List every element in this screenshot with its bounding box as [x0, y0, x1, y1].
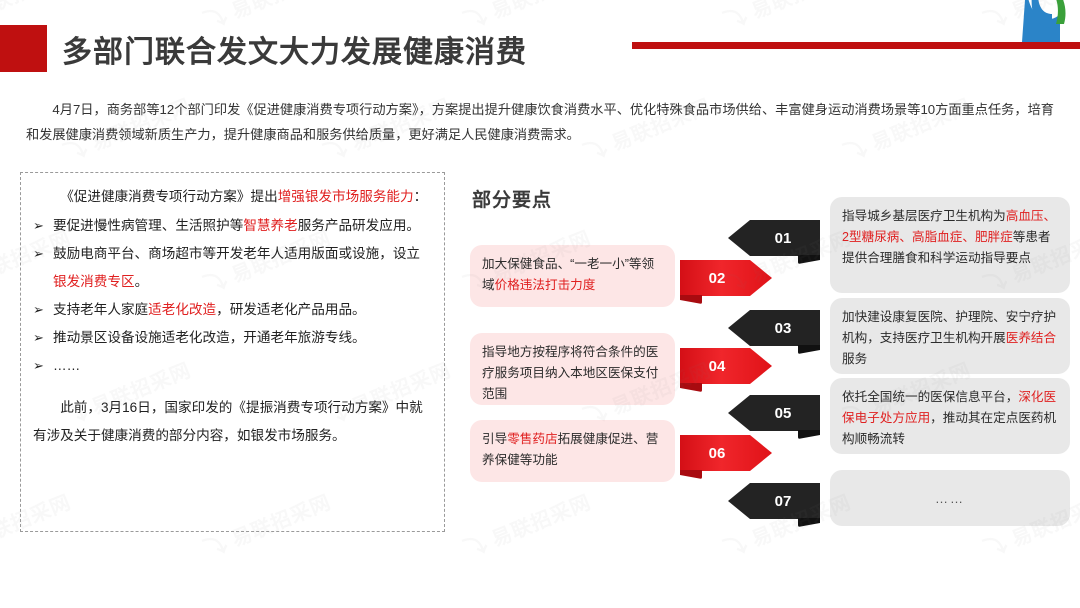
page-title: 多部门联合发文大力发展健康消费: [62, 27, 527, 71]
bullet-plain-2: ，研发适老化产品用品。: [216, 302, 366, 317]
key-point-badge-04[interactable]: 04: [680, 348, 772, 384]
bullet-highlight: 智慧养老: [243, 218, 297, 233]
badge-tail: [680, 383, 702, 392]
badge-shape: 01: [728, 220, 820, 256]
bullet-arrow-icon: ➢: [33, 324, 44, 352]
key-point-bubble-05: 依托全国统一的医保信息平台，深化医保电子处方应用，推动其在定点医药机构顺畅流转: [830, 378, 1070, 454]
kp-plain-1: 指导城乡基层医疗卫生机构为: [842, 209, 1006, 223]
badge-number: 03: [757, 320, 792, 337]
kp-plain-1: 指导地方按程序将符合条件的医疗服务项目纳入本地区医保支付范围: [482, 345, 658, 401]
badge-tail: [680, 295, 702, 304]
left-footer-paragraph: 此前，3月16日，国家印发的《提振消费专项行动方案》中就有涉及关于健康消费的部分…: [33, 394, 430, 450]
left-summary-box: 《促进健康消费专项行动方案》提出增强银发市场服务能力： ➢要促进慢性病管理、生活…: [20, 172, 445, 532]
badge-tail: [798, 430, 820, 439]
list-item: ➢鼓励电商平台、商场超市等开发老年人适用版面或设施，设立银发消费专区。: [33, 240, 430, 296]
badge-tail: [798, 345, 820, 354]
list-item: ➢……: [33, 352, 430, 380]
left-lead-plain-2: ：: [414, 189, 428, 204]
intro-paragraph: 4月7日，商务部等12个部门印发《促进健康消费专项行动方案》，方案提出提升健康饮…: [26, 97, 1054, 147]
bullet-plain-1: 支持老年人家庭: [53, 302, 148, 317]
kp-plain-1: 引导: [482, 432, 507, 446]
key-point-badge-03[interactable]: 03: [728, 310, 820, 346]
key-point-badge-07[interactable]: 07: [728, 483, 820, 519]
badge-tail: [798, 255, 820, 264]
bullet-plain-2: 服务产品研发应用。: [298, 218, 420, 233]
header-accent-square: [0, 25, 47, 72]
kp-plain-1: 依托全国统一的医保信息平台，: [842, 390, 1018, 404]
key-point-badge-01[interactable]: 01: [728, 220, 820, 256]
badge-number: 06: [709, 445, 744, 462]
bullet-plain-1: ……: [53, 358, 80, 373]
badge-shape: 06: [680, 435, 772, 471]
badge-number: 07: [757, 493, 792, 510]
kp-highlight: 价格违法打击力度: [495, 278, 596, 292]
watermark-logo-icon: ⤵: [719, 0, 752, 36]
bullet-arrow-icon: ➢: [33, 212, 44, 240]
key-point-badge-05[interactable]: 05: [728, 395, 820, 431]
brand-logo-icon: [1008, 0, 1072, 42]
badge-shape: 04: [680, 348, 772, 384]
kp-highlight: 零售药店: [507, 432, 557, 446]
bullet-arrow-icon: ➢: [33, 296, 44, 324]
bullet-plain-1: 推动景区设备设施适老化改造，开通老年旅游专线。: [53, 330, 366, 345]
key-point-bubble-01: 指导城乡基层医疗卫生机构为高血压、2型糖尿病、高脂血症、肥胖症等患者提供合理膳食…: [830, 197, 1070, 293]
bullet-plain-1: 要促进慢性病管理、生活照护等: [53, 218, 243, 233]
left-lead-plain-1: 《促进健康消费专项行动方案》提出: [60, 189, 278, 204]
key-point-badge-02[interactable]: 02: [680, 260, 772, 296]
list-item: ➢推动景区设备设施适老化改造，开通老年旅游专线。: [33, 324, 430, 352]
left-bullet-list: ➢要促进慢性病管理、生活照护等智慧养老服务产品研发应用。 ➢鼓励电商平台、商场超…: [33, 212, 430, 380]
badge-shape: 02: [680, 260, 772, 296]
header-accent-bar: [632, 42, 1080, 49]
badge-tail: [680, 470, 702, 479]
badge-shape: 07: [728, 483, 820, 519]
badge-shape: 05: [728, 395, 820, 431]
bullet-arrow-icon: ➢: [33, 352, 44, 380]
badge-number: 02: [709, 270, 744, 287]
badge-tail: [798, 518, 820, 527]
badge-shape: 03: [728, 310, 820, 346]
key-point-badge-06[interactable]: 06: [680, 435, 772, 471]
bullet-plain-1: 鼓励电商平台、商场超市等开发老年人适用版面或设施，设立: [53, 246, 420, 261]
list-item: ➢要促进慢性病管理、生活照护等智慧养老服务产品研发应用。: [33, 212, 430, 240]
badge-number: 04: [709, 358, 744, 375]
key-point-bubble-03: 加快建设康复医院、护理院、安宁疗护机构，支持医疗卫生机构开展医养结合服务: [830, 298, 1070, 374]
watermark-text: ⤵易联招采网: [719, 0, 855, 36]
key-point-bubble-07: ……: [830, 470, 1070, 526]
key-point-bubble-02: 加大保健食品、“一老一小”等领域价格违法打击力度: [470, 245, 675, 307]
bullet-plain-2: 。: [135, 274, 149, 289]
kp-plain-2: 服务: [842, 352, 867, 366]
left-lead-paragraph: 《促进健康消费专项行动方案》提出增强银发市场服务能力：: [33, 183, 430, 211]
kp-plain-1: ……: [935, 488, 965, 509]
list-item: ➢支持老年人家庭适老化改造，研发适老化产品用品。: [33, 296, 430, 324]
bullet-highlight: 适老化改造: [148, 302, 216, 317]
badge-number: 05: [757, 405, 792, 422]
left-lead-highlight: 增强银发市场服务能力: [278, 189, 414, 204]
bullet-highlight: 银发消费专区: [53, 274, 135, 289]
key-point-bubble-06: 引导零售药店拓展健康促进、营养保健等功能: [470, 420, 675, 482]
key-points-flow: 指导城乡基层医疗卫生机构为高血压、2型糖尿病、高脂血症、肥胖症等患者提供合理膳食…: [460, 205, 1070, 535]
key-point-bubble-04: 指导地方按程序将符合条件的医疗服务项目纳入本地区医保支付范围: [470, 333, 675, 405]
bullet-arrow-icon: ➢: [33, 240, 44, 268]
kp-highlight: 医养结合: [1006, 331, 1056, 345]
badge-number: 01: [757, 230, 792, 247]
